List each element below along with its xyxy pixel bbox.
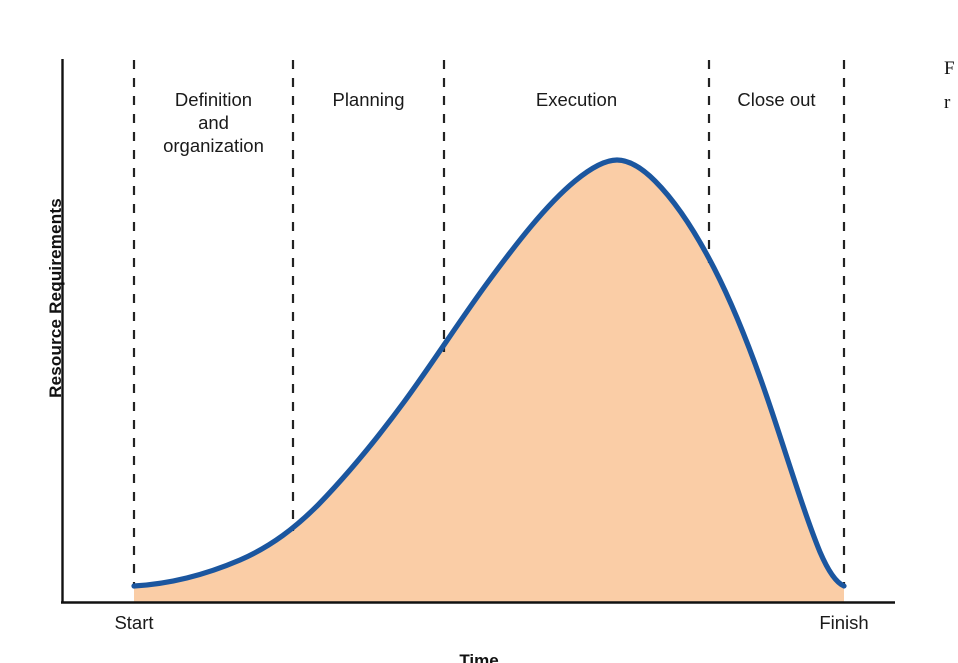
- caption-fragment: F r: [944, 52, 958, 122]
- x-axis-title: Time: [0, 651, 958, 663]
- resource-area-fill: [134, 160, 844, 602]
- y-axis-title: Resource Requirements: [46, 173, 66, 423]
- chart-canvas: [0, 0, 958, 663]
- figure-resource-requirements-curve: Resource Requirements Definition and org…: [0, 0, 958, 663]
- x-axis-tick-start: Start: [84, 612, 184, 634]
- x-axis-tick-finish: Finish: [794, 612, 894, 634]
